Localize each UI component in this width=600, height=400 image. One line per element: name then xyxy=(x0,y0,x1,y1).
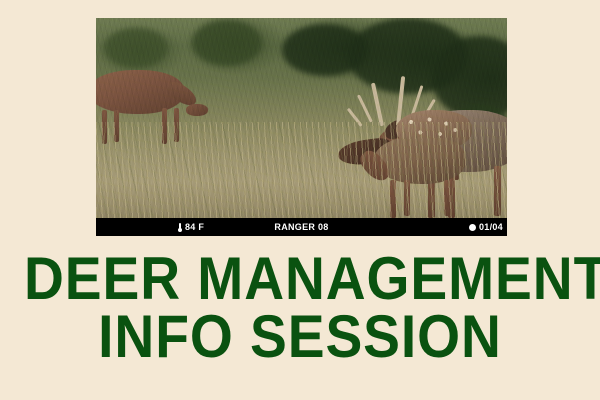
camera-name-label: RANGER 08 xyxy=(96,222,507,232)
date-value: 01/04 xyxy=(479,222,503,232)
title-line-1: DEER MANAGEMENT xyxy=(24,250,576,308)
photo-scene xyxy=(96,18,507,218)
title-line-2: INFO SESSION xyxy=(24,308,576,366)
photo-grain-overlay xyxy=(96,18,507,218)
trail-camera-photo: 84 F RANGER 08 01/04 xyxy=(96,18,507,236)
camera-info-bar: 84 F RANGER 08 01/04 xyxy=(96,218,507,236)
page-title: DEER MANAGEMENT INFO SESSION xyxy=(0,250,600,366)
poster-canvas: 84 F RANGER 08 01/04 DEER MANAGEMENT INF… xyxy=(0,0,600,400)
date-readout: 01/04 xyxy=(469,222,503,232)
moon-icon xyxy=(469,224,476,231)
